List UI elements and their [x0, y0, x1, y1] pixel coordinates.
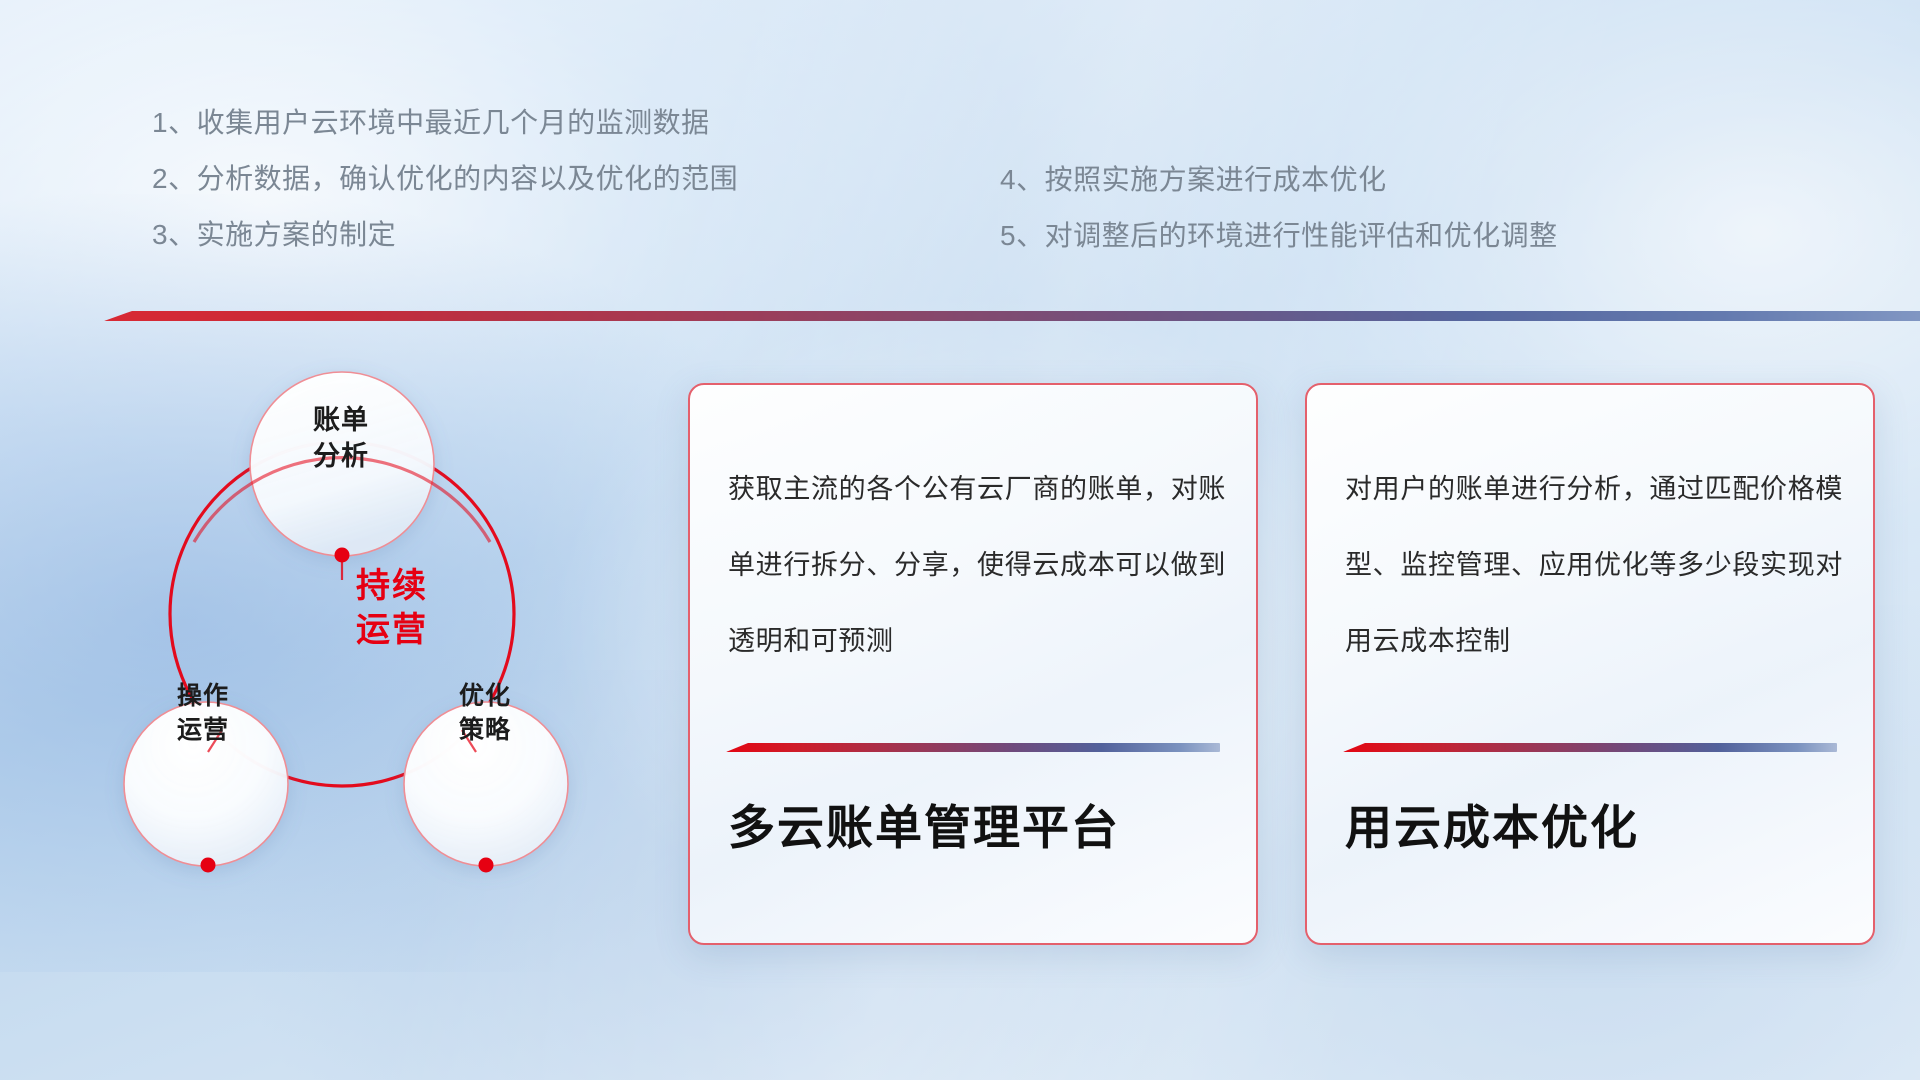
feature-card-divider — [1343, 743, 1837, 752]
process-step-5: 5、对调整后的环境进行性能评估和优化调整 — [1000, 208, 1558, 264]
process-steps-left-column: 1、收集用户云环境中最近几个月的监测数据 2、分析数据，确认优化的内容以及优化的… — [152, 95, 738, 263]
process-step-4: 4、按照实施方案进行成本优化 — [1000, 152, 1558, 208]
venn-circle-operations — [124, 702, 288, 866]
venn-node-dot-bottom-left — [201, 858, 216, 873]
venn-diagram-svg — [96, 352, 656, 952]
process-step-2: 2、分析数据，确认优化的内容以及优化的范围 — [152, 151, 738, 207]
feature-card-cloud-cost-optimization[interactable]: 对用户的账单进行分析，通过匹配价格模型、监控管理、应用优化等多少段实现对用云成本… — [1305, 383, 1875, 945]
feature-card-body: 获取主流的各个公有云厂商的账单，对账单进行拆分、分享，使得云成本可以做到透明和可… — [728, 451, 1226, 679]
section-divider-rule — [104, 311, 1920, 321]
venn-node-dot-top — [335, 548, 350, 563]
process-steps-region: 1、收集用户云环境中最近几个月的监测数据 2、分析数据，确认优化的内容以及优化的… — [0, 0, 1920, 290]
venn-circle-strategy — [404, 702, 568, 866]
process-step-3: 3、实施方案的制定 — [152, 207, 738, 263]
feature-card-body: 对用户的账单进行分析，通过匹配价格模型、监控管理、应用优化等多少段实现对用云成本… — [1345, 451, 1843, 679]
process-step-1: 1、收集用户云环境中最近几个月的监测数据 — [152, 95, 738, 151]
feature-card-divider — [726, 743, 1220, 752]
process-steps-right-column: 4、按照实施方案进行成本优化 5、对调整后的环境进行性能评估和优化调整 — [1000, 152, 1558, 264]
venn-circle-billing — [250, 372, 434, 556]
feature-card-title: 用云成本优化 — [1345, 789, 1849, 858]
continuous-operations-diagram: 账单 分析 操作 运营 优化 策略 持续 运营 — [96, 352, 656, 952]
venn-node-dot-bottom-right — [479, 858, 494, 873]
feature-card-multicloud-billing[interactable]: 获取主流的各个公有云厂商的账单，对账单进行拆分、分享，使得云成本可以做到透明和可… — [688, 383, 1258, 945]
feature-card-title: 多云账单管理平台 — [728, 789, 1232, 858]
